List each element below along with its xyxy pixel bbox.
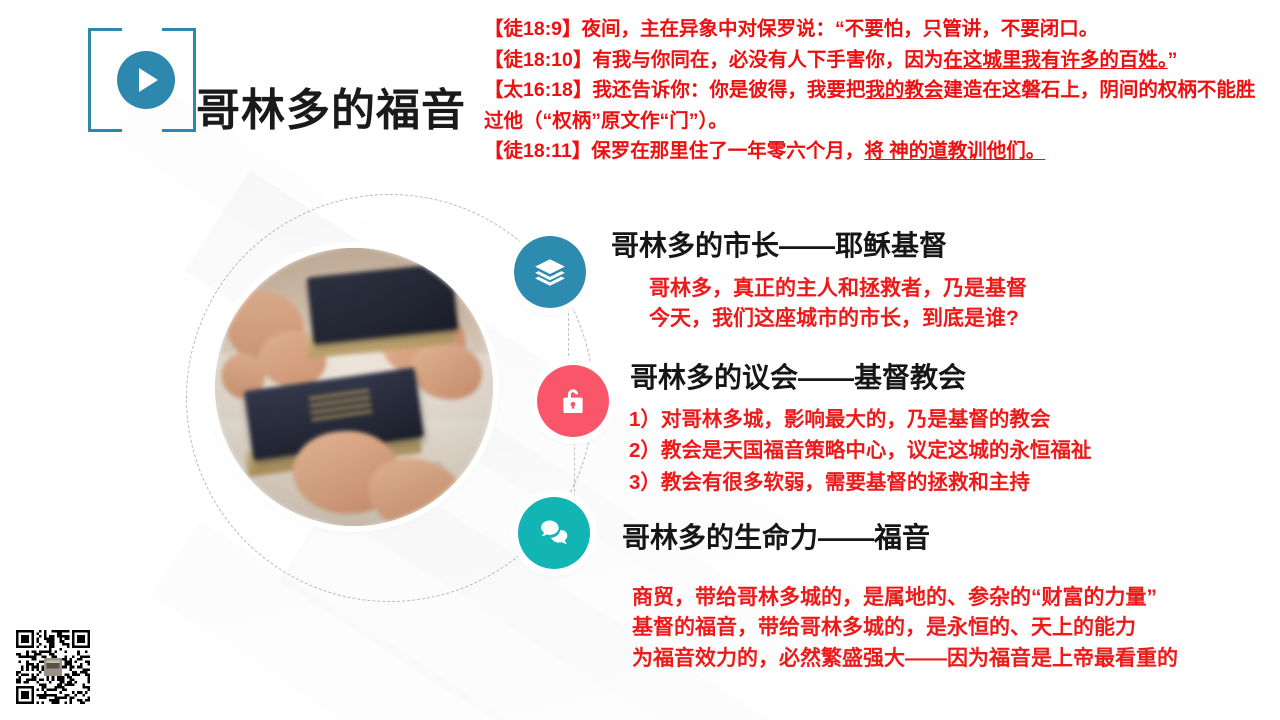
- scripture-line-2: 【徒18:10】有我与你同在，必没有人下手害你，因为在这城里我有许多的百姓。”: [484, 45, 1270, 76]
- section-body-line: 基督的福音，带给哥林多城的，是永恒的、天上的能力: [632, 613, 1178, 643]
- scripture-line-4: 【徒18:11】保罗在那里住了一年零六个月，将 神的道教训他们。: [484, 136, 1270, 167]
- connector-dashed-line: [574, 437, 575, 497]
- section-body-line: 为福音效力的，必然繁盛强大——因为福音是上帝最看重的: [632, 644, 1178, 674]
- praying-hands-over-bibles-photo: [215, 248, 493, 526]
- scripture-block: 【徒18:9】夜间，主在异象中对保罗说：“不要怕，只管讲，不要闭口。 【徒18:…: [484, 14, 1270, 167]
- scripture-line-1: 【徒18:9】夜间，主在异象中对保罗说：“不要怕，只管讲，不要闭口。: [484, 14, 1270, 45]
- page-title: 哥林多的福音: [196, 74, 466, 138]
- slide-header: 哥林多的福音: [88, 28, 488, 140]
- section-body: 商贸，带给哥林多城的，是属地的、参杂的“财富的力量”基督的福音，带给哥林多城的，…: [632, 583, 1178, 674]
- speech-bubbles-icon: [518, 497, 590, 569]
- slide-canvas: 哥林多的福音 【徒18:9】夜间，主在异象中对保罗说：“不要怕，只管讲，不要闭口…: [0, 0, 1280, 720]
- connector-dashed-line: [568, 308, 569, 366]
- section-body: 1）对哥林多城，影响最大的，乃是基督的教会2）教会是天国福音策略中心，议定这城的…: [629, 404, 1091, 498]
- section-heading: 哥林多的生命力——福音: [622, 516, 930, 556]
- logo-frame: [88, 28, 196, 132]
- section-body-line: 1）对哥林多城，影响最大的，乃是基督的教会: [629, 404, 1091, 435]
- section-heading: 哥林多的市长——耶稣基督: [611, 224, 947, 264]
- layers-icon: [514, 236, 586, 308]
- qr-code[interactable]: [16, 630, 90, 704]
- section-body-line: 2）教会是天国福音策略中心，议定这城的永恒福祉: [629, 435, 1091, 466]
- scripture-line-3: 【太16:18】我还告诉你：你是彼得，我要把我的教会建造在这磐石上，阴间的权柄不…: [484, 75, 1270, 136]
- play-button-icon: [117, 51, 175, 109]
- section-body-line: 今天，我们这座城市的市长，到底是谁?: [649, 304, 1027, 334]
- section-body-line: 哥林多，真正的主人和拯救者，乃是基督: [649, 274, 1027, 304]
- section-body-line: 3）教会有很多软弱，需要基督的拯救和主持: [629, 467, 1091, 498]
- section-body: 哥林多，真正的主人和拯救者，乃是基督今天，我们这座城市的市长，到底是谁?: [649, 274, 1027, 334]
- section-heading: 哥林多的议会——基督教会: [630, 356, 966, 396]
- section-body-line: 商贸，带给哥林多城的，是属地的、参杂的“财富的力量”: [632, 583, 1178, 613]
- unlocked-padlock-icon: [537, 365, 609, 437]
